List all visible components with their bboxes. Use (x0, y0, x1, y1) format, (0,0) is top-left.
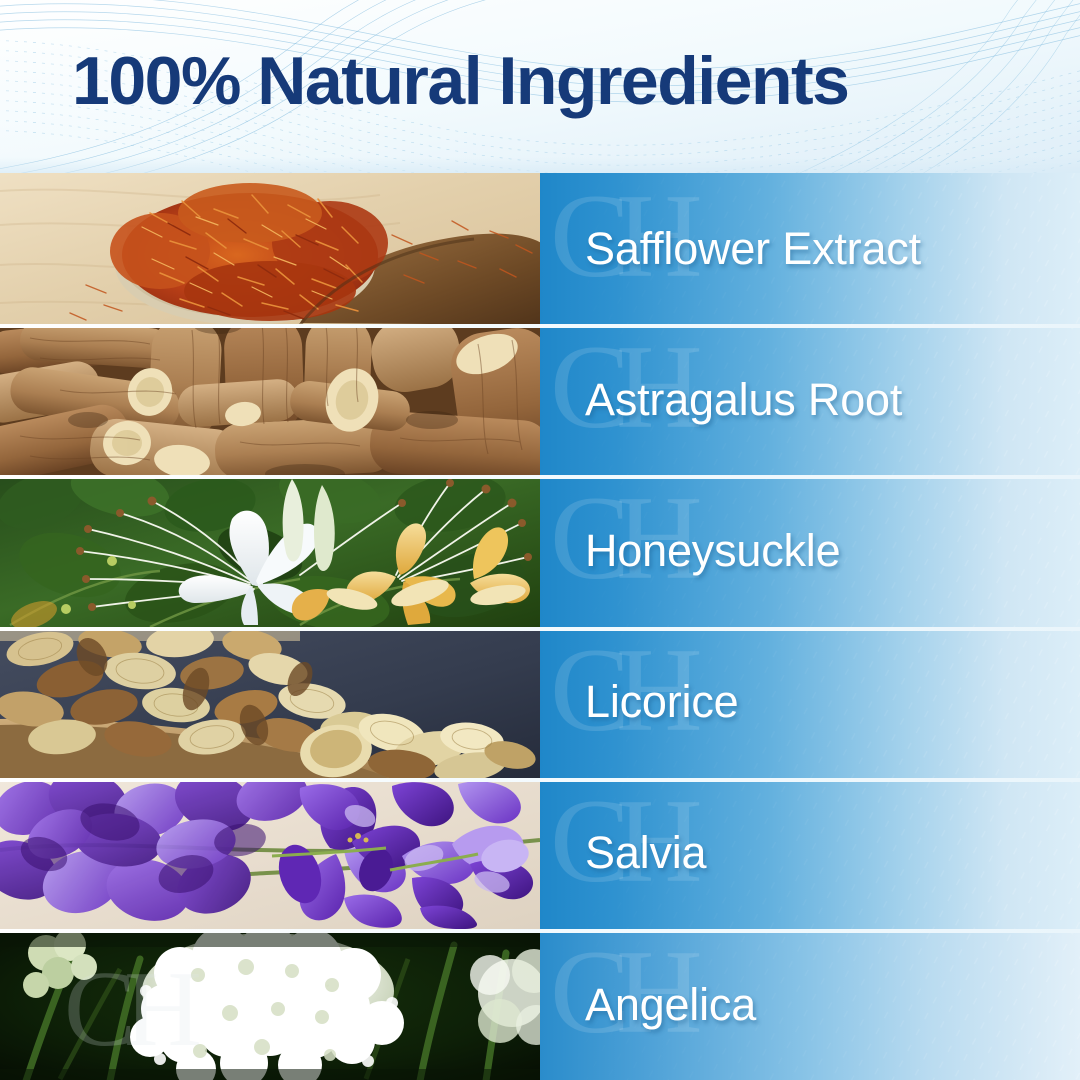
ingredient-row[interactable]: CH CH Angelica (0, 929, 1080, 1080)
ingredient-name: Astragalus Root (585, 374, 902, 426)
ingredient-label-cell: CH Safflower Extract (540, 173, 1080, 324)
safflower-threads-on-wooden-spoon-photo (0, 173, 540, 324)
ingredient-row[interactable]: CH Honeysuckle (0, 475, 1080, 626)
astragalus-root-pieces-photo (0, 324, 540, 475)
ingredient-row[interactable]: CH Salvia (0, 778, 1080, 929)
ingredient-label-cell: CH Salvia (540, 778, 1080, 929)
page-title: 100% Natural Ingredients (72, 42, 848, 120)
natural-ingredients-infographic: 100% Natural Ingredients (0, 0, 1080, 1080)
licorice-root-slices-on-wooden-scoop-photo (0, 627, 540, 778)
ingredient-list: CH Safflower Extract (0, 173, 1080, 1080)
svg-text:CH: CH (64, 950, 199, 1069)
ingredient-name: Safflower Extract (585, 223, 921, 275)
ingredient-name: Angelica (585, 979, 756, 1031)
ingredient-name: Honeysuckle (585, 525, 840, 577)
ingredient-row[interactable]: CH Astragalus Root (0, 324, 1080, 475)
ingredient-row[interactable]: CH Safflower Extract (0, 173, 1080, 324)
ingredient-row[interactable]: CH Licorice (0, 627, 1080, 778)
ingredient-name: Salvia (585, 827, 706, 879)
header-banner: 100% Natural Ingredients (0, 0, 1080, 173)
ingredient-name: Licorice (585, 676, 738, 728)
honeysuckle-flowers-on-green-foliage-photo (0, 475, 540, 626)
angelica-white-umbel-flowers-photo: CH (0, 929, 540, 1080)
purple-salvia-flowers-photo (0, 778, 540, 929)
ingredient-label-cell: CH Honeysuckle (540, 475, 1080, 626)
ingredient-label-cell: CH Angelica (540, 929, 1080, 1080)
ingredient-label-cell: CH Licorice (540, 627, 1080, 778)
ingredient-label-cell: CH Astragalus Root (540, 324, 1080, 475)
header-bottom-fade (0, 157, 1080, 173)
